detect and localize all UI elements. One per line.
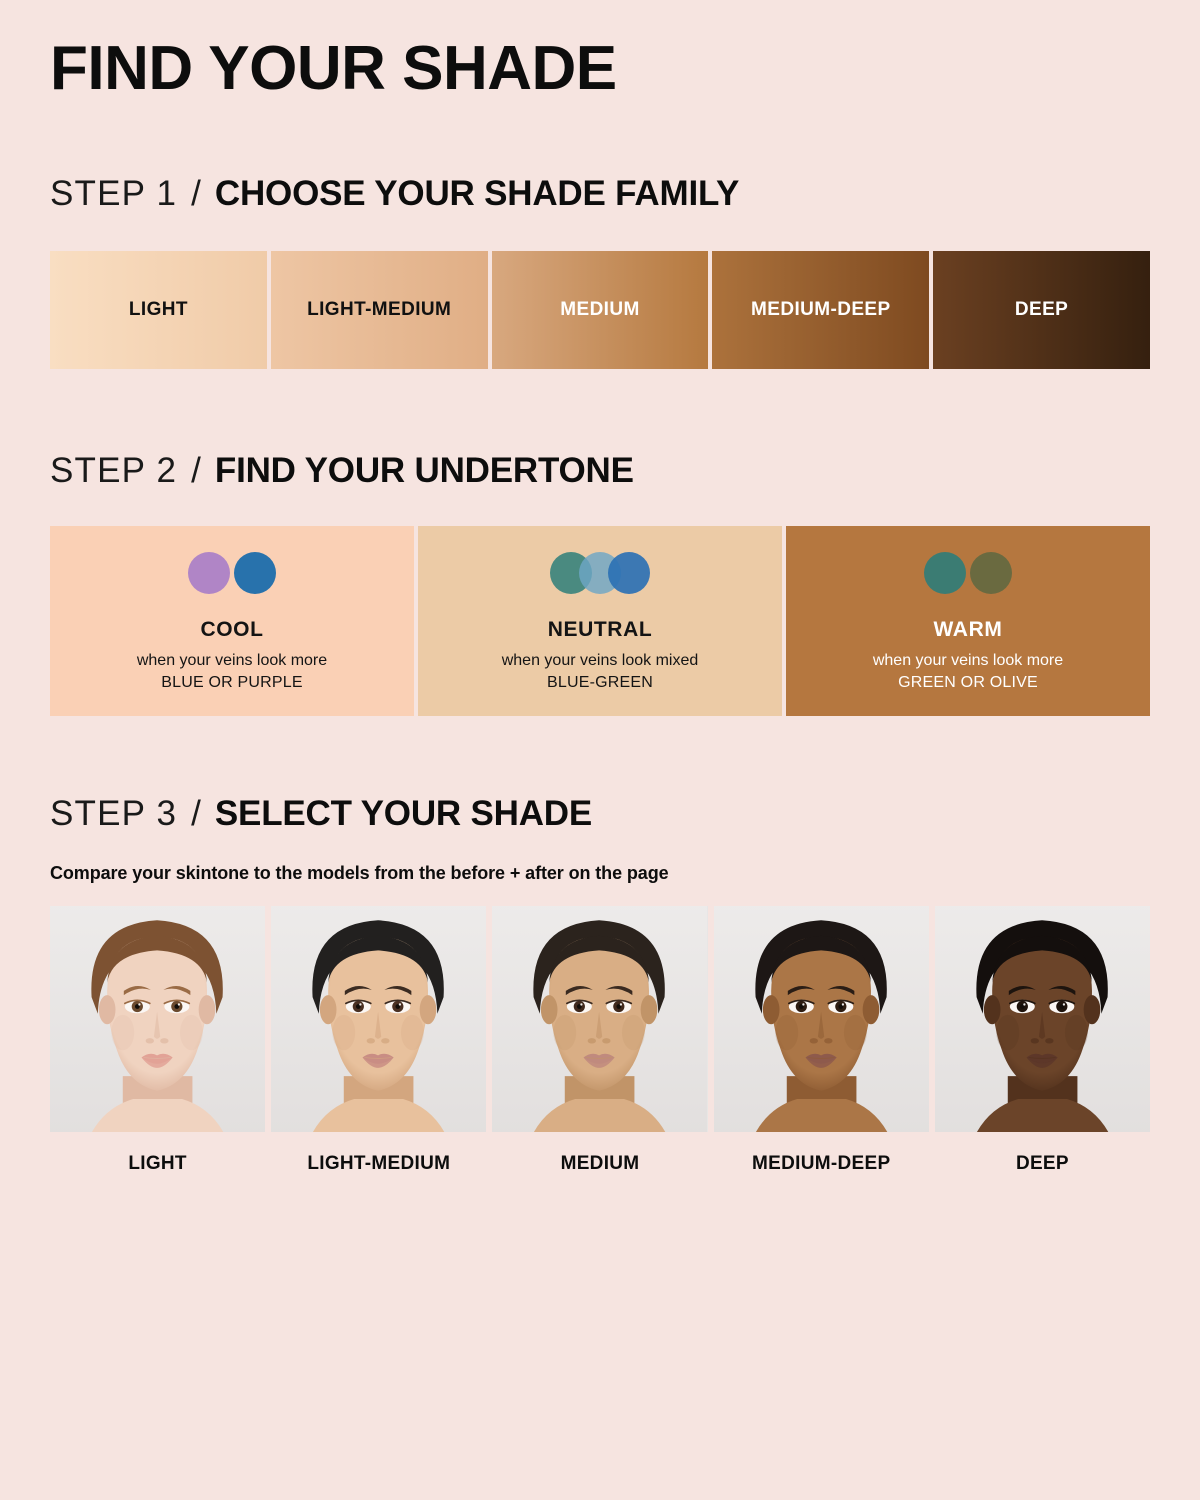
shade-family-segment[interactable]: LIGHT	[50, 251, 267, 369]
undertone-desc-line-1: when your veins look mixed	[502, 650, 699, 672]
undertone-desc-line-2: BLUE-GREEN	[502, 672, 699, 694]
model-shade-label: LIGHT-MEDIUM	[271, 1153, 486, 1175]
model-portrait-photo	[50, 906, 265, 1132]
model-shade-label: MEDIUM-DEEP	[714, 1153, 929, 1175]
find-your-shade-page: FIND YOUR SHADE STEP 1 / CHOOSE YOUR SHA…	[0, 0, 1200, 1500]
step-2-number: STEP 2	[50, 451, 177, 491]
shade-family-segment[interactable]: MEDIUM	[492, 251, 709, 369]
model-cell-light-medium[interactable]: LIGHT-MEDIUM	[271, 906, 486, 1175]
undertone-desc-line-1: when your veins look more	[137, 650, 327, 672]
step-1-separator: /	[191, 174, 201, 214]
undertone-color-dots	[924, 552, 1012, 594]
shade-family-label: MEDIUM-DEEP	[751, 299, 891, 321]
step-1-number: STEP 1	[50, 174, 177, 214]
step-3-title: SELECT YOUR SHADE	[215, 794, 592, 834]
undertone-color-dots	[188, 552, 276, 594]
model-shade-label: LIGHT	[50, 1153, 265, 1175]
model-portrait-photo	[714, 906, 929, 1132]
undertone-name: NEUTRAL	[548, 618, 653, 642]
undertone-name: WARM	[934, 618, 1003, 642]
page-title: FIND YOUR SHADE	[50, 0, 1150, 100]
undertone-desc-line-2: GREEN OR OLIVE	[873, 672, 1063, 694]
undertone-name: COOL	[200, 618, 263, 642]
undertone-panel-neutral[interactable]: NEUTRALwhen your veins look mixedBLUE-GR…	[418, 526, 782, 716]
undertone-description: when your veins look moreBLUE OR PURPLE	[137, 650, 327, 693]
shade-family-segment[interactable]: MEDIUM-DEEP	[712, 251, 929, 369]
undertone-panel-cool[interactable]: COOLwhen your veins look moreBLUE OR PUR…	[50, 526, 414, 716]
model-photo-row: LIGHT	[50, 906, 1150, 1175]
step-3-number: STEP 3	[50, 794, 177, 834]
model-portrait-photo	[271, 906, 486, 1132]
color-dot-icon	[608, 552, 650, 594]
model-shade-label: MEDIUM	[492, 1153, 707, 1175]
shade-family-label: DEEP	[1015, 299, 1068, 321]
shade-family-label: MEDIUM	[560, 299, 639, 321]
step-1-title: CHOOSE YOUR SHADE FAMILY	[215, 174, 739, 214]
undertone-color-dots	[550, 552, 650, 594]
undertone-desc-line-1: when your veins look more	[873, 650, 1063, 672]
undertone-panels: COOLwhen your veins look moreBLUE OR PUR…	[50, 526, 1150, 716]
color-dot-icon	[188, 552, 230, 594]
model-cell-medium[interactable]: MEDIUM	[492, 906, 707, 1175]
undertone-desc-line-2: BLUE OR PURPLE	[137, 672, 327, 694]
color-dot-icon	[924, 552, 966, 594]
model-cell-medium-deep[interactable]: MEDIUM-DEEP	[714, 906, 929, 1175]
step-2-separator: /	[191, 451, 201, 491]
undertone-description: when your veins look moreGREEN OR OLIVE	[873, 650, 1063, 693]
models-subtitle: Compare your skintone to the models from…	[50, 863, 1150, 884]
color-dot-icon	[970, 552, 1012, 594]
shade-family-segment[interactable]: LIGHT-MEDIUM	[271, 251, 488, 369]
shade-family-label: LIGHT-MEDIUM	[307, 299, 451, 321]
undertone-panel-warm[interactable]: WARMwhen your veins look moreGREEN OR OL…	[786, 526, 1150, 716]
model-shade-label: DEEP	[935, 1153, 1150, 1175]
step-2-title: FIND YOUR UNDERTONE	[215, 451, 634, 491]
step-2-header: STEP 2 / FIND YOUR UNDERTONE	[50, 451, 1150, 491]
model-cell-deep[interactable]: DEEP	[935, 906, 1150, 1175]
color-dot-icon	[234, 552, 276, 594]
step-1-header: STEP 1 / CHOOSE YOUR SHADE FAMILY	[50, 174, 1150, 214]
shade-family-label: LIGHT	[129, 299, 188, 321]
model-portrait-photo	[492, 906, 707, 1132]
shade-family-bar: LIGHTLIGHT-MEDIUMMEDIUMMEDIUM-DEEPDEEP	[50, 251, 1150, 369]
step-3-separator: /	[191, 794, 201, 834]
undertone-description: when your veins look mixedBLUE-GREEN	[502, 650, 699, 693]
step-3-header: STEP 3 / SELECT YOUR SHADE	[50, 794, 1150, 834]
model-cell-light[interactable]: LIGHT	[50, 906, 265, 1175]
model-portrait-photo	[935, 906, 1150, 1132]
shade-family-segment[interactable]: DEEP	[933, 251, 1150, 369]
